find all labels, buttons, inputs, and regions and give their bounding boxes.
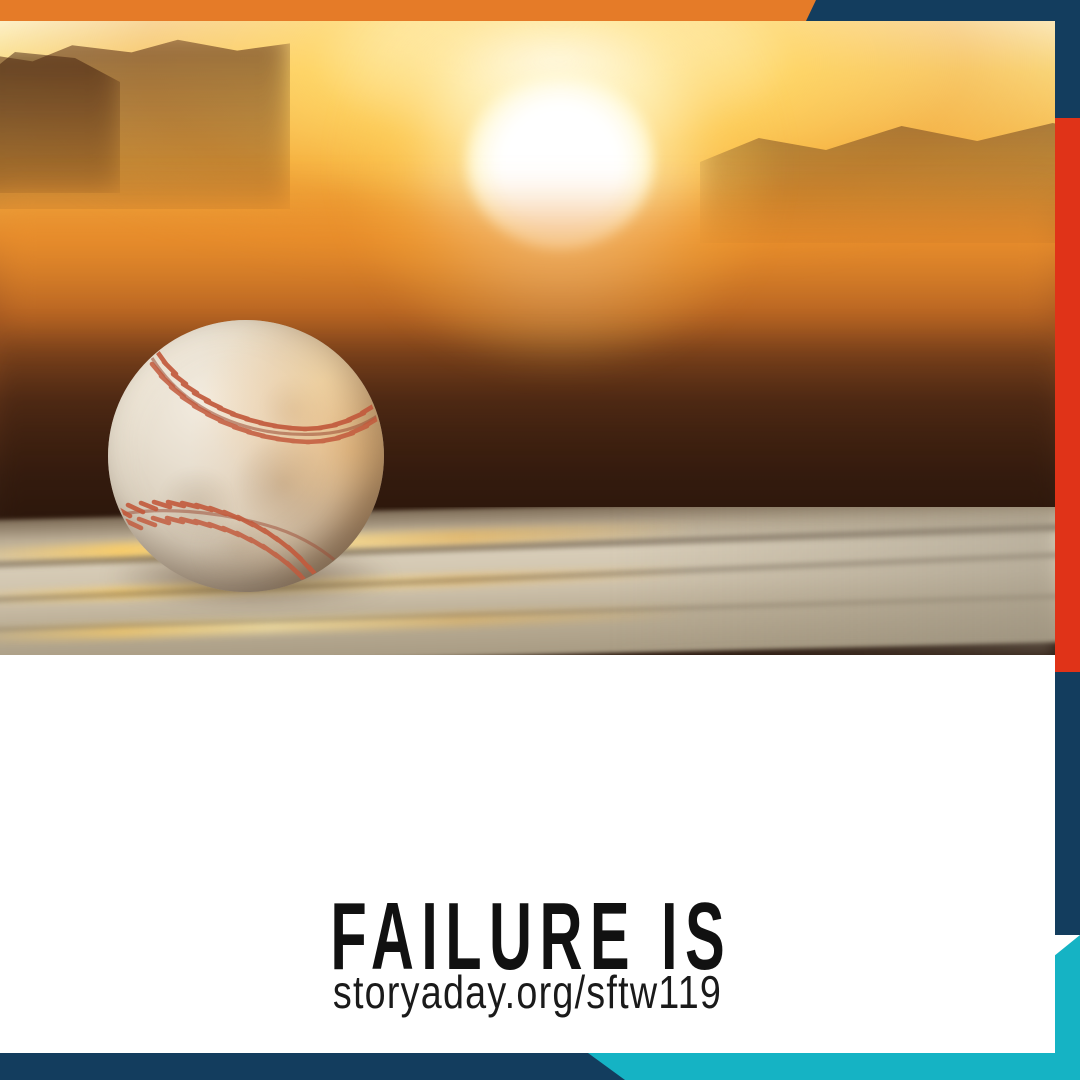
stripe-segment-navy-top	[1055, 0, 1080, 118]
baseball	[100, 316, 388, 606]
top-orange-band	[0, 0, 816, 21]
atmospheric-haze	[0, 181, 1055, 331]
stripe-segment-teal	[1055, 935, 1080, 1080]
stripe-segment-red	[1055, 118, 1080, 672]
right-accent-stripe	[1055, 0, 1080, 1080]
wood-shade-right	[612, 507, 1055, 655]
baseball-stitching	[108, 320, 384, 592]
headline: FAILURE IS NOT OPTIONAL	[200, 707, 854, 1080]
stripe-segment-navy-middle	[1055, 672, 1080, 935]
hero-photo	[0, 21, 1055, 655]
poster-canvas: FAILURE IS NOT OPTIONAL storyaday.org/sf…	[0, 0, 1080, 1080]
caption-panel: FAILURE IS NOT OPTIONAL storyaday.org/sf…	[0, 655, 1055, 1053]
bottom-accent-band	[0, 1053, 1080, 1080]
bottom-navy-band	[0, 1053, 625, 1080]
website-url[interactable]: storyaday.org/sftw119	[95, 965, 960, 1019]
